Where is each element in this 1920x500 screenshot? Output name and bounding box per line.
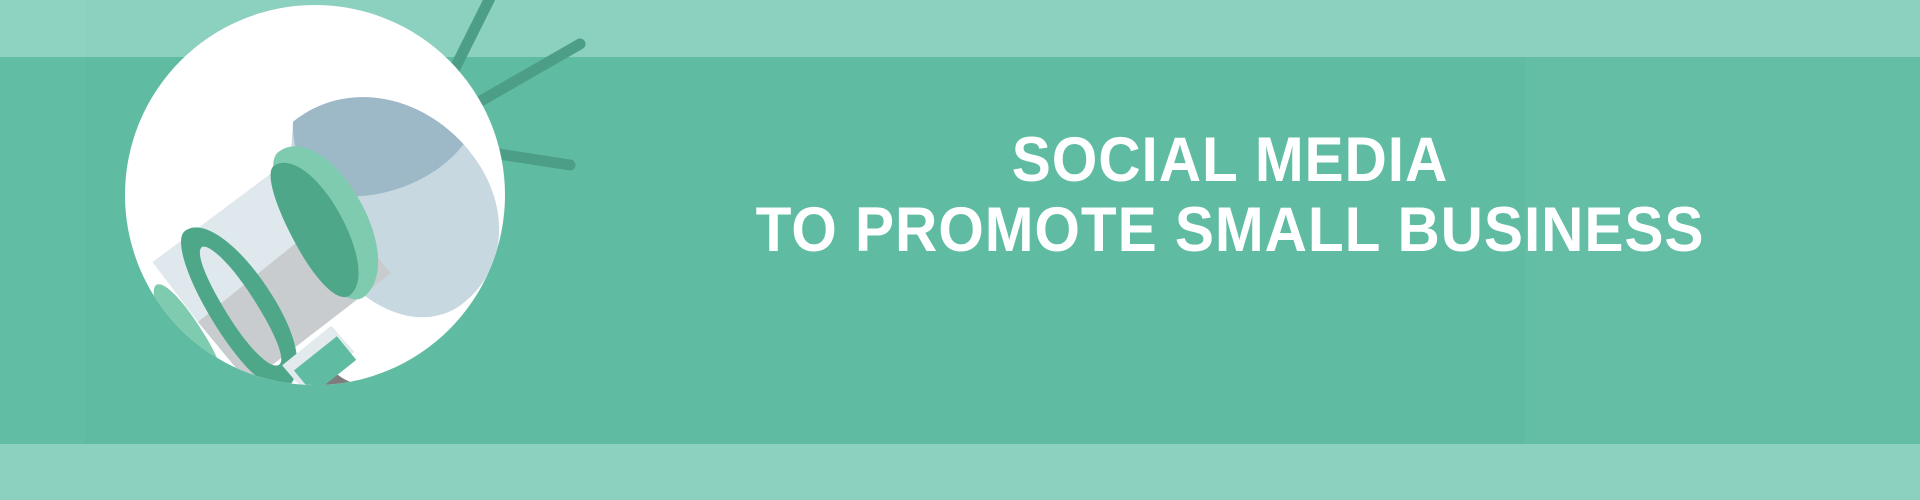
sound-wave-line-2: [465, 44, 580, 110]
headline-line-2: TO PROMOTE SMALL BUSINESS: [607, 200, 1853, 262]
headline-block: SOCIAL MEDIA TO PROMOTE SMALL BUSINESS: [560, 130, 1900, 261]
megaphone-illustration: [0, 0, 640, 500]
headline-line-1: SOCIAL MEDIA: [607, 130, 1853, 192]
social-media-banner: SOCIAL MEDIA TO PROMOTE SMALL BUSINESS: [0, 0, 1920, 500]
